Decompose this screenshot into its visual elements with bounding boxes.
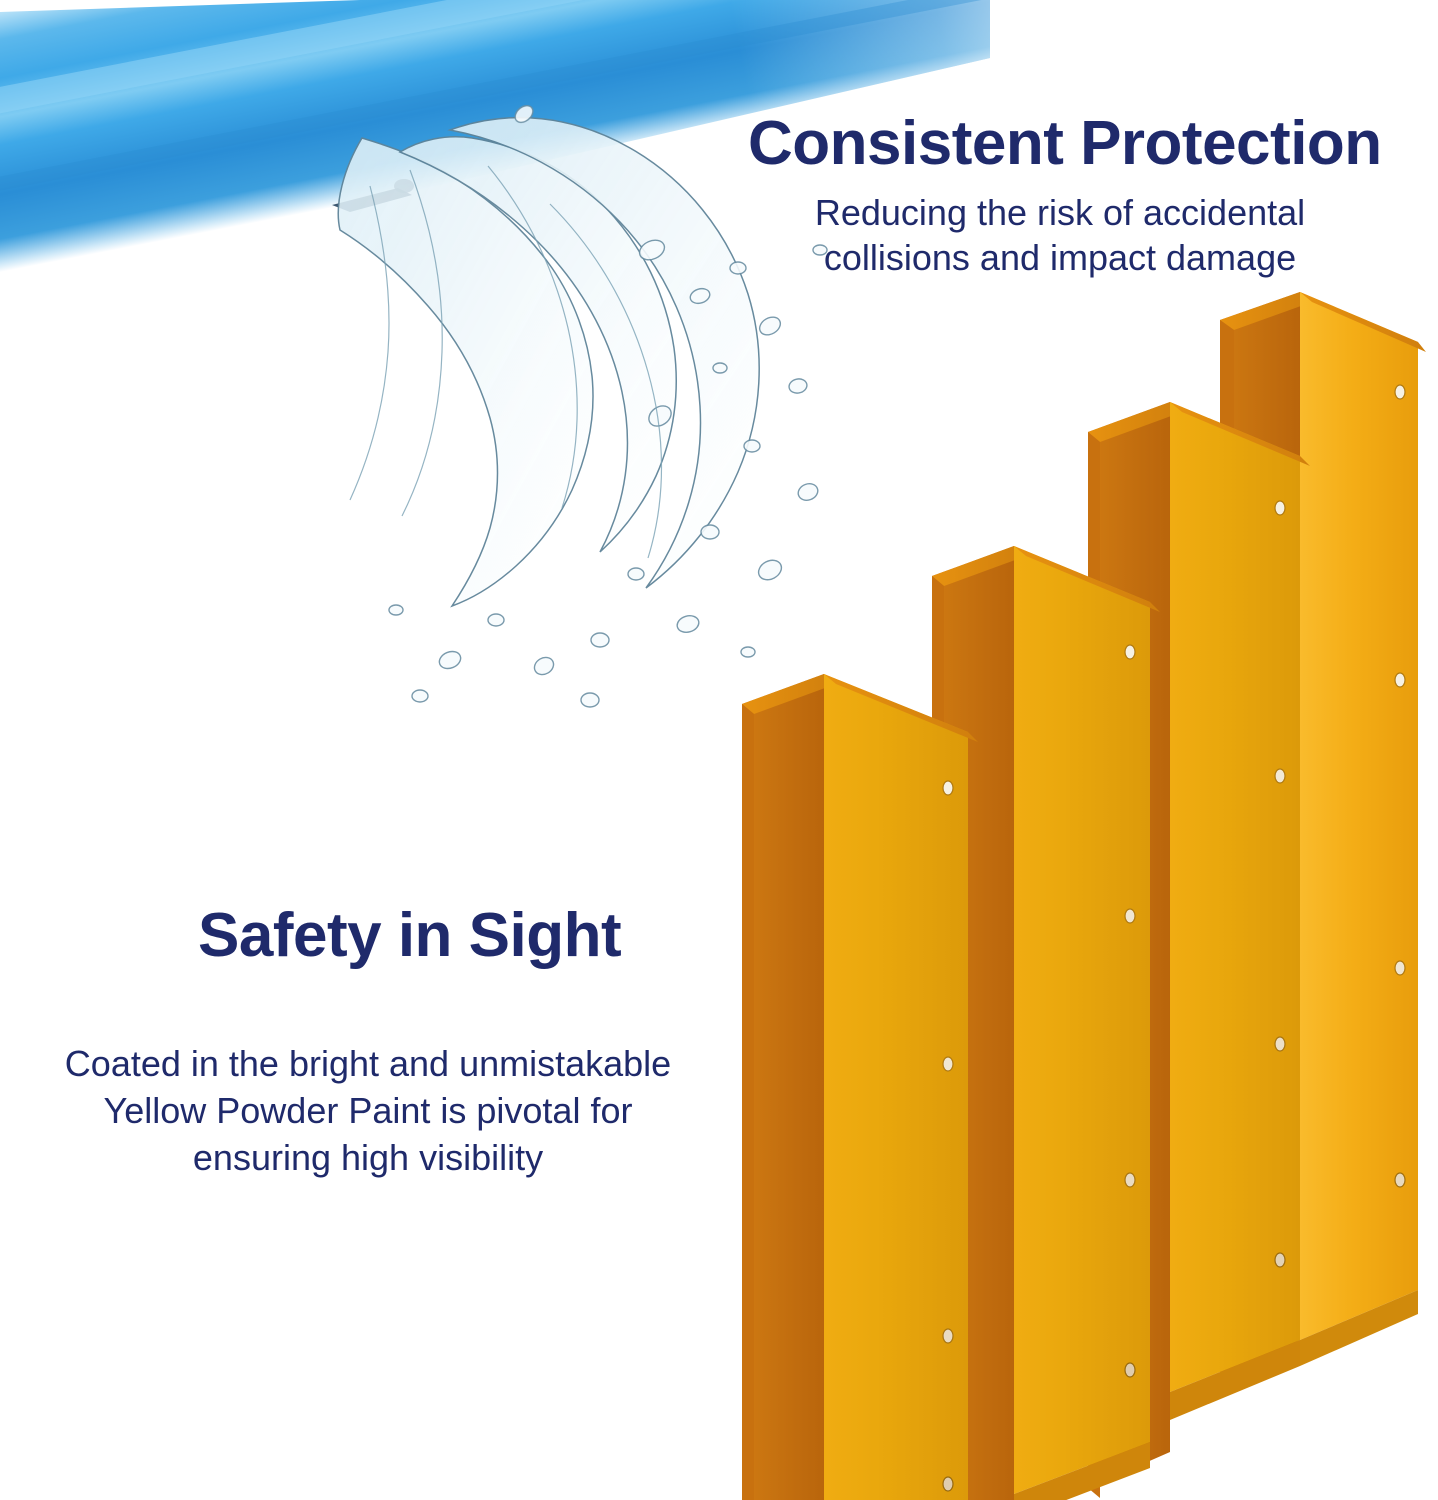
subline-consistent-line1: Reducing the risk of accidental: [760, 190, 1360, 235]
guard-second: [932, 546, 1160, 1500]
mounting-holes: [943, 781, 953, 1491]
mounting-holes: [1275, 501, 1285, 1267]
guard-front: [742, 674, 978, 1500]
pipe-leak-point: [332, 179, 414, 212]
subline-consistent-protection: Reducing the risk of accidental collisio…: [760, 190, 1360, 280]
subline-safety-in-sight: Coated in the bright and unmistakable Ye…: [18, 1040, 718, 1181]
headline-safety-in-sight: Safety in Sight: [198, 898, 621, 974]
yellow-column-guards: [700, 280, 1438, 1500]
headline-consistent-protection: Consistent Protection: [748, 108, 1382, 180]
mounting-holes: [1125, 645, 1135, 1377]
product-feature-graphic: Consistent Protection Reducing the risk …: [0, 0, 1438, 1500]
subline-safety-line3: ensuring high visibility: [18, 1134, 718, 1181]
subline-safety-line1: Coated in the bright and unmistakable: [18, 1040, 718, 1087]
subline-safety-line2: Yellow Powder Paint is pivotal for: [18, 1087, 718, 1134]
guard-third: [1088, 402, 1310, 1498]
subline-consistent-line2: collisions and impact damage: [760, 235, 1360, 280]
guard-rear: [1220, 292, 1426, 1388]
mounting-holes: [1395, 385, 1405, 1187]
